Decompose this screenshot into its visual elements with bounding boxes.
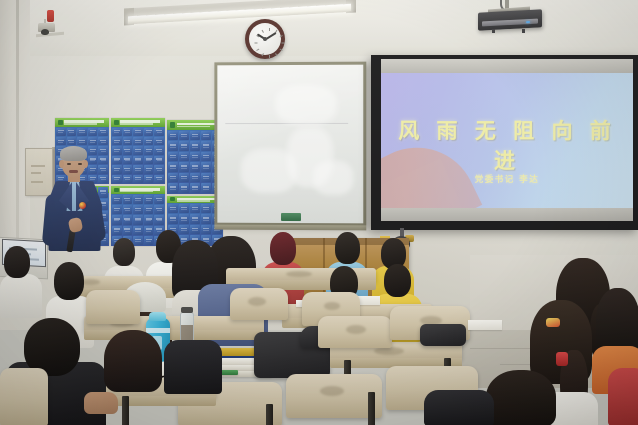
student-head (270, 232, 296, 265)
poster-logo-icon (170, 197, 174, 201)
projector-power-indicator-icon (526, 20, 530, 22)
projection-screen: 风 雨 无 阻 向 前 进 党委书记 李达 (371, 55, 638, 230)
whiteboard-surface[interactable] (217, 65, 363, 224)
presenter-eye (67, 163, 71, 165)
chair-back (230, 288, 288, 320)
presentation-slide: 风 雨 无 阻 向 前 进 党委书记 李达 (381, 73, 633, 208)
poster-tile-grid (111, 127, 165, 184)
student (486, 370, 556, 425)
classroom-photo: 风 雨 无 阻 向 前 进 党委书记 李达 (0, 0, 638, 425)
clock-tick (261, 30, 263, 33)
poster-subtitle-line (177, 126, 211, 128)
student-torso (164, 340, 222, 394)
student-head (113, 238, 135, 266)
presenter-hair (60, 146, 87, 161)
clock-tick (269, 28, 270, 31)
presenter-ear (83, 160, 88, 168)
panel-label-line (31, 172, 41, 174)
ceiling-projector (478, 9, 542, 30)
student-head (384, 264, 411, 297)
thermos-cap (149, 312, 166, 321)
poster-title-line (177, 123, 218, 126)
poster-logo-icon (114, 120, 118, 125)
poster-logo-icon (58, 120, 62, 125)
whiteboard-smudge (313, 161, 353, 195)
poster-subtitle-line (64, 123, 96, 125)
clock-tick (261, 53, 263, 56)
clock-tick (281, 43, 284, 44)
clock-tick (279, 49, 282, 51)
clock-tick (279, 35, 282, 37)
pencil-case (420, 324, 466, 346)
student (0, 246, 42, 316)
fire-alarm-icon (47, 10, 54, 22)
desk-leg (368, 392, 375, 425)
presenter-ear (59, 160, 64, 168)
student-head (4, 246, 30, 278)
whiteboard-smudge (275, 85, 337, 125)
projector-foot (522, 29, 525, 33)
clock-tick (254, 43, 257, 44)
student (424, 390, 494, 425)
whiteboard-marker-line (225, 123, 347, 124)
presenter (42, 146, 106, 258)
chair-back (318, 316, 392, 348)
slide-subtitle: 党委书记 李达 (381, 173, 633, 185)
desk-leg (122, 396, 129, 425)
student (164, 340, 222, 394)
bottle-contents (181, 325, 193, 341)
poster-panel (111, 118, 165, 184)
student-hair (104, 330, 162, 392)
desk-leg (266, 404, 273, 425)
presenter-badge-pin (79, 202, 86, 209)
clock-tick (275, 53, 277, 56)
paper-sheet (468, 320, 502, 330)
presenter-eye (78, 163, 82, 165)
clock-tick (256, 49, 259, 51)
red-cup (556, 352, 568, 366)
clock-tick (269, 55, 270, 58)
student-torso (608, 368, 638, 425)
slide-title: 风 雨 无 阻 向 前 进 (381, 115, 633, 175)
student-torso (0, 274, 42, 318)
camera-lens-icon (41, 29, 49, 35)
poster-logo-icon (170, 122, 174, 128)
whiteboard[interactable] (214, 62, 366, 227)
left-wall-panel (0, 0, 30, 260)
chair-back (0, 368, 48, 425)
whiteboard-eraser[interactable] (281, 213, 301, 221)
student-hair (486, 370, 556, 425)
student (608, 368, 638, 425)
wall-seam (16, 0, 19, 250)
poster-logo-icon (114, 188, 118, 193)
screen-bottom-band (381, 208, 633, 221)
hair-clip (546, 318, 560, 327)
clock-center-pin (263, 37, 267, 41)
projector-foot (492, 29, 495, 33)
screen-top-band (381, 59, 633, 73)
student-head (335, 232, 360, 264)
student (104, 330, 162, 400)
projector-lens-strip (482, 19, 538, 27)
presenter-mouth (69, 170, 78, 173)
wall-clock (245, 19, 285, 59)
student-torso (424, 390, 494, 425)
bottle-cap (181, 307, 193, 313)
student-head (54, 262, 84, 300)
poster-subtitle-line (120, 123, 152, 125)
whiteboard-marker-tray (214, 225, 366, 231)
poster-subtitle-line (120, 191, 152, 193)
poster-subtitle-line (177, 200, 211, 202)
